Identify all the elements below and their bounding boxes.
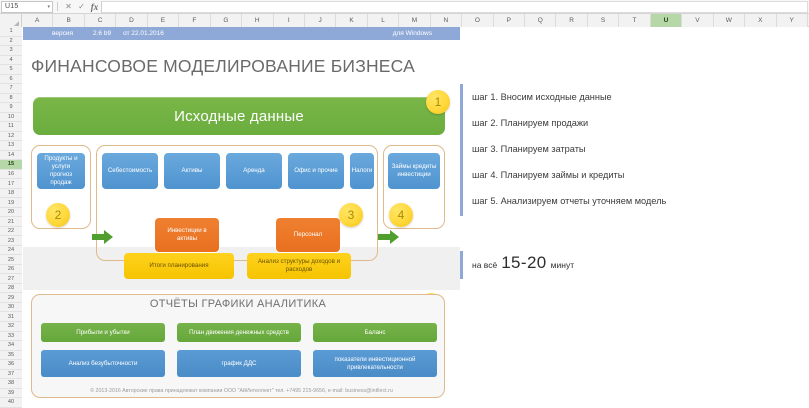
column-header-n[interactable]: N [431, 14, 462, 27]
source-data-label: Исходные данные [174, 108, 304, 125]
tile-label: Персонал [294, 231, 322, 239]
column-header-g[interactable]: G [211, 14, 242, 27]
tile-label: Инвестиции в активы [158, 227, 216, 243]
row-header-20[interactable]: 20 [0, 208, 22, 218]
chevron-down-icon[interactable]: ▾ [47, 4, 51, 10]
row-header-32[interactable]: 32 [0, 322, 22, 332]
time-value: 15-20 [501, 253, 546, 273]
row-header-9[interactable]: 9 [0, 103, 22, 113]
row-header-7[interactable]: 7 [0, 84, 22, 94]
button-label: Баланс [364, 329, 385, 337]
column-header-p[interactable]: P [494, 14, 525, 27]
column-header-d[interactable]: D [116, 14, 147, 27]
source-data-button[interactable]: Исходные данные [33, 97, 445, 135]
step-item-2: шаг 2. Планируем продажи [460, 110, 790, 136]
column-header-k[interactable]: K [336, 14, 367, 27]
report-button-breakeven[interactable]: Анализ безубыточности [41, 350, 165, 377]
row-header-column: 1234567891011121314151617181920212223242… [0, 27, 22, 408]
report-button-investment-kpi[interactable]: показатели инвестиционной привлекательно… [313, 350, 437, 377]
input-tile-taxes[interactable]: Налоги [349, 152, 375, 190]
column-header-e[interactable]: E [148, 14, 179, 27]
formula-bar: U15 ▾ ✕ ✓ fx [0, 0, 809, 14]
row-header-18[interactable]: 18 [0, 189, 22, 199]
step-label: шаг 3. Планируем затраты [472, 144, 586, 154]
step-label: шаг 5. Анализируем отчеты уточняем модел… [472, 196, 666, 206]
step-badge-3: 3 [339, 203, 363, 227]
column-header-r[interactable]: R [556, 14, 587, 27]
row-header-11[interactable]: 11 [0, 122, 22, 132]
row-header-4[interactable]: 4 [0, 56, 22, 66]
step-badge-1: 1 [426, 90, 450, 114]
row-header-8[interactable]: 8 [0, 94, 22, 104]
step-item-5: шаг 5. Анализируем отчеты уточняем модел… [460, 188, 790, 214]
button-label: Прибыли и убытки [76, 329, 129, 337]
tile-label: Налоги [352, 167, 373, 175]
row-header-37[interactable]: 37 [0, 370, 22, 380]
tile-label: Займы кредиты инвестиции [391, 163, 437, 179]
row-header-15[interactable]: 15 [0, 160, 22, 170]
row-header-27[interactable]: 27 [0, 274, 22, 284]
page-title: ФИНАНСОВОЕ МОДЕЛИРОВАНИЕ БИЗНЕСА [31, 56, 415, 77]
column-header-y[interactable]: Y [777, 14, 808, 27]
step-label: шаг 1. Вносим исходные данные [472, 92, 612, 102]
row-header-33[interactable]: 33 [0, 332, 22, 342]
row-header-12[interactable]: 12 [0, 132, 22, 142]
row-header-39[interactable]: 39 [0, 389, 22, 399]
row-header-16[interactable]: 16 [0, 170, 22, 180]
row-header-5[interactable]: 5 [0, 65, 22, 75]
row-header-28[interactable]: 28 [0, 284, 22, 294]
step-item-1: шаг 1. Вносим исходные данные [460, 84, 790, 110]
arrow-right-icon-1 [92, 230, 114, 244]
fx-icon[interactable]: fx [88, 1, 101, 13]
row-header-34[interactable]: 34 [0, 341, 22, 351]
row-header-35[interactable]: 35 [0, 351, 22, 361]
column-header-u[interactable]: U [651, 14, 682, 27]
step-item-3: шаг 3. Планируем затраты [460, 136, 790, 162]
step-label: шаг 2. Планируем продажи [472, 118, 588, 128]
divider [57, 2, 58, 11]
arrow-right-icon-2 [378, 230, 400, 244]
process-tile-personnel[interactable]: Персонал [275, 217, 341, 253]
excel-window: U15 ▾ ✕ ✓ fx ABCDEFGHIJKLMNOPQRSTUVWXY 1… [0, 0, 809, 408]
column-header-w[interactable]: W [714, 14, 745, 27]
row-header-17[interactable]: 17 [0, 179, 22, 189]
report-button-cash-flow[interactable]: План движения денежных средств [177, 323, 301, 342]
column-header-f[interactable]: F [179, 14, 210, 27]
report-button-profit-loss[interactable]: Прибыли и убытки [41, 323, 165, 342]
column-header-row: ABCDEFGHIJKLMNOPQRSTUVWXY [0, 14, 809, 27]
report-button-cashflow-chart[interactable]: график ДДС [177, 350, 301, 377]
time-prefix: на всё [472, 260, 497, 270]
row-header-31[interactable]: 31 [0, 312, 22, 322]
step-label: шаг 4. Планируем займы и кредиты [472, 170, 624, 180]
tile-label: Аренда [243, 167, 264, 175]
accept-icon[interactable]: ✓ [75, 1, 88, 13]
column-header-a[interactable]: A [22, 14, 53, 27]
column-header-o[interactable]: O [462, 14, 493, 27]
version-label: версия [52, 30, 73, 37]
column-header-i[interactable]: I [274, 14, 305, 27]
tile-label: Итоги планирования [149, 262, 208, 270]
column-header-s[interactable]: S [588, 14, 619, 27]
row-header-2[interactable]: 2 [0, 37, 22, 47]
version-date: от 22.01.2016 [123, 30, 164, 37]
name-box[interactable]: U15 ▾ [1, 1, 53, 13]
column-header-t[interactable]: T [619, 14, 650, 27]
input-tile-assets[interactable]: Активы [163, 152, 221, 190]
button-label: Анализ безубыточности [69, 360, 138, 368]
row-header-14[interactable]: 14 [0, 151, 22, 161]
row-header-30[interactable]: 30 [0, 303, 22, 313]
time-estimate: на всё 15-20 минут [472, 253, 574, 273]
version-platform: для Windows [393, 30, 432, 37]
steps-panel: шаг 1. Вносим исходные данныешаг 2. План… [460, 48, 790, 214]
row-header-10[interactable]: 10 [0, 113, 22, 123]
tile-label: Себестоимость [108, 167, 152, 175]
tile-label: Продукты и услуги прогноз продаж [40, 155, 82, 187]
step-badge-4: 4 [389, 203, 413, 227]
row-header-23[interactable]: 23 [0, 236, 22, 246]
summary-tile-planning-results[interactable]: Итоги планирования [124, 253, 234, 279]
column-header-q[interactable]: Q [525, 14, 556, 27]
button-label: график ДДС [222, 360, 257, 368]
dashboard-card: ФИНАНСОВОЕ МОДЕЛИРОВАНИЕ БИЗНЕСА Исходны… [23, 40, 460, 408]
input-tile-products[interactable]: Продукты и услуги прогноз продаж [36, 152, 86, 190]
tile-label: Активы [182, 167, 203, 175]
row-header-26[interactable]: 26 [0, 265, 22, 275]
column-header-b[interactable]: B [53, 14, 84, 27]
row-header-25[interactable]: 25 [0, 255, 22, 265]
input-tile-loans[interactable]: Займы кредиты инвестиции [387, 152, 441, 190]
reports-title: ОТЧЁТЫ ГРАФИКИ АНАЛИТИКА [31, 298, 445, 310]
column-header-x[interactable]: X [745, 14, 776, 27]
row-header-3[interactable]: 3 [0, 46, 22, 56]
version-number: 2.6 b9 [93, 30, 111, 37]
row-header-13[interactable]: 13 [0, 141, 22, 151]
report-button-balance[interactable]: Баланс [313, 323, 437, 342]
formula-input[interactable] [101, 1, 808, 13]
column-header-c[interactable]: C [85, 14, 116, 27]
row-header-6[interactable]: 6 [0, 75, 22, 85]
tile-label: Офис и прочие [294, 167, 338, 175]
process-tile-investments[interactable]: Инвестиции в активы [154, 217, 220, 253]
row-header-24[interactable]: 24 [0, 246, 22, 256]
row-header-40[interactable]: 40 [0, 398, 22, 408]
step-badge-2: 2 [46, 203, 70, 227]
name-box-value: U15 [3, 3, 18, 10]
column-header-l[interactable]: L [368, 14, 399, 27]
row-header-19[interactable]: 19 [0, 198, 22, 208]
input-tile-cost[interactable]: Себестоимость [101, 152, 159, 190]
row-header-38[interactable]: 38 [0, 379, 22, 389]
row-header-21[interactable]: 21 [0, 217, 22, 227]
footer-copyright: © 2013-2016 Авторские права принадлежат … [23, 388, 460, 394]
button-label: План движения денежных средств [189, 329, 289, 337]
column-header-h[interactable]: H [242, 14, 273, 27]
row-header-22[interactable]: 22 [0, 227, 22, 237]
time-suffix: минут [551, 260, 574, 270]
summary-tile-structure-analysis[interactable]: Анализ структуры доходов и расходов [247, 253, 351, 279]
input-tile-office[interactable]: Офис и прочие [287, 152, 345, 190]
input-tile-rent[interactable]: Аренда [225, 152, 283, 190]
cancel-icon[interactable]: ✕ [62, 1, 75, 13]
row-header-29[interactable]: 29 [0, 293, 22, 303]
tile-label: Анализ структуры доходов и расходов [251, 258, 347, 274]
select-all-corner[interactable] [0, 14, 22, 27]
row-header-36[interactable]: 36 [0, 360, 22, 370]
step-item-4: шаг 4. Планируем займы и кредиты [460, 162, 790, 188]
column-header-v[interactable]: V [682, 14, 713, 27]
row-header-1[interactable]: 1 [0, 27, 22, 37]
column-header-j[interactable]: J [305, 14, 336, 27]
button-label: показатели инвестиционной привлекательно… [316, 356, 434, 372]
time-accent-rule [460, 251, 463, 279]
version-band: версия 2.6 b9 от 22.01.2016 для Windows [23, 27, 460, 40]
column-header-m[interactable]: M [399, 14, 430, 27]
